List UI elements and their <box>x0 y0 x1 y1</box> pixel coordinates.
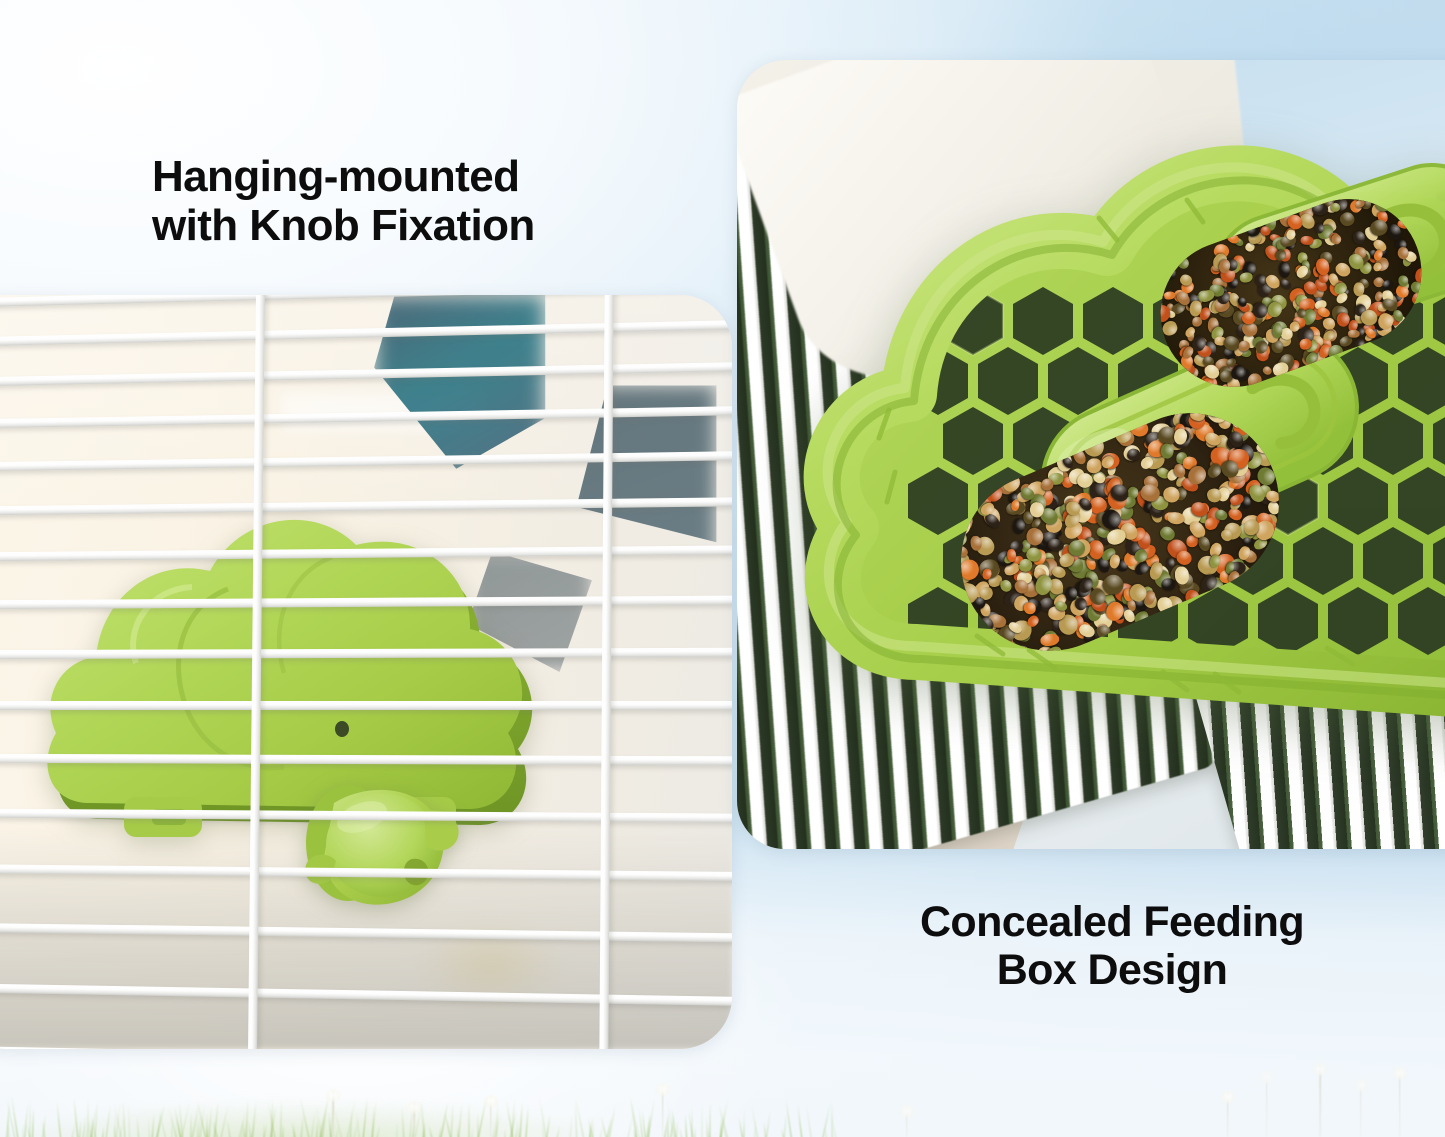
grass-blade <box>690 1104 692 1137</box>
seed <box>1204 517 1219 531</box>
grass-blade <box>293 1125 295 1137</box>
seed <box>1279 278 1294 292</box>
dandelion-puff <box>655 1083 670 1096</box>
grass-blade <box>281 1124 284 1137</box>
grass-blade <box>504 1128 506 1137</box>
dandelion-puff <box>1220 1091 1235 1104</box>
seed <box>1175 255 1191 271</box>
dandelion-puff <box>1259 1071 1274 1084</box>
dandelion-puff <box>899 1105 914 1118</box>
dandelion-seedhead <box>1312 1065 1328 1137</box>
dandelion-seedhead <box>1220 1093 1236 1137</box>
dandelion-seedhead <box>1392 1069 1408 1137</box>
feature-photo-concealed-feeding-box <box>737 60 1445 849</box>
seed <box>1192 317 1202 327</box>
seed <box>1161 320 1180 338</box>
grass-blade <box>206 1113 208 1137</box>
dandelion-seedhead <box>406 1103 422 1137</box>
caption-concealed-feeding-box: Concealed Feeding Box Design <box>862 898 1362 994</box>
caption-hanging-mount-line2: with Knob Fixation <box>152 201 535 250</box>
seed <box>1239 272 1252 283</box>
seed <box>1161 578 1175 591</box>
dandelion-seedhead <box>655 1085 671 1137</box>
feature-photo-hanging-mount <box>0 295 732 1049</box>
dandelion-seedhead <box>899 1107 915 1137</box>
caption-concealed-line1: Concealed Feeding <box>862 898 1362 946</box>
grass-blade <box>694 1127 696 1137</box>
seed <box>970 536 982 551</box>
dandelion-puff <box>1313 1063 1328 1076</box>
seed <box>1280 262 1291 278</box>
seed <box>1352 230 1365 244</box>
dandelion-puff <box>483 1095 498 1108</box>
seed <box>1261 365 1273 377</box>
dandelion-puff <box>1392 1067 1407 1080</box>
background-grass-band <box>0 1045 1445 1137</box>
seed <box>1399 275 1409 286</box>
grass-blade <box>709 1101 712 1137</box>
caption-concealed-line2: Box Design <box>862 946 1362 994</box>
caption-hanging-mount-line1: Hanging-mounted <box>152 152 535 201</box>
grass-blade <box>477 1112 479 1137</box>
seed <box>1382 279 1395 289</box>
seed <box>1006 549 1016 562</box>
seed <box>1348 329 1361 338</box>
green-fixing-knob <box>270 773 470 913</box>
dandelion-seedhead <box>325 1091 341 1137</box>
grass-blade <box>468 1101 470 1137</box>
seed <box>1175 567 1189 585</box>
seed <box>1151 293 1164 305</box>
dandelion-seedhead <box>1353 1081 1369 1137</box>
dandelion-puff <box>407 1101 422 1114</box>
dandelion-puff <box>326 1089 341 1102</box>
seed <box>1244 519 1259 535</box>
dandelion-seedhead <box>483 1097 499 1137</box>
caption-hanging-mount: Hanging-mounted with Knob Fixation <box>152 152 535 251</box>
dandelion-puff <box>1353 1079 1368 1092</box>
seed <box>1163 265 1176 280</box>
grass-blade <box>515 1127 517 1137</box>
room-object-dark <box>561 385 717 581</box>
dandelion-seedhead <box>1259 1073 1275 1137</box>
